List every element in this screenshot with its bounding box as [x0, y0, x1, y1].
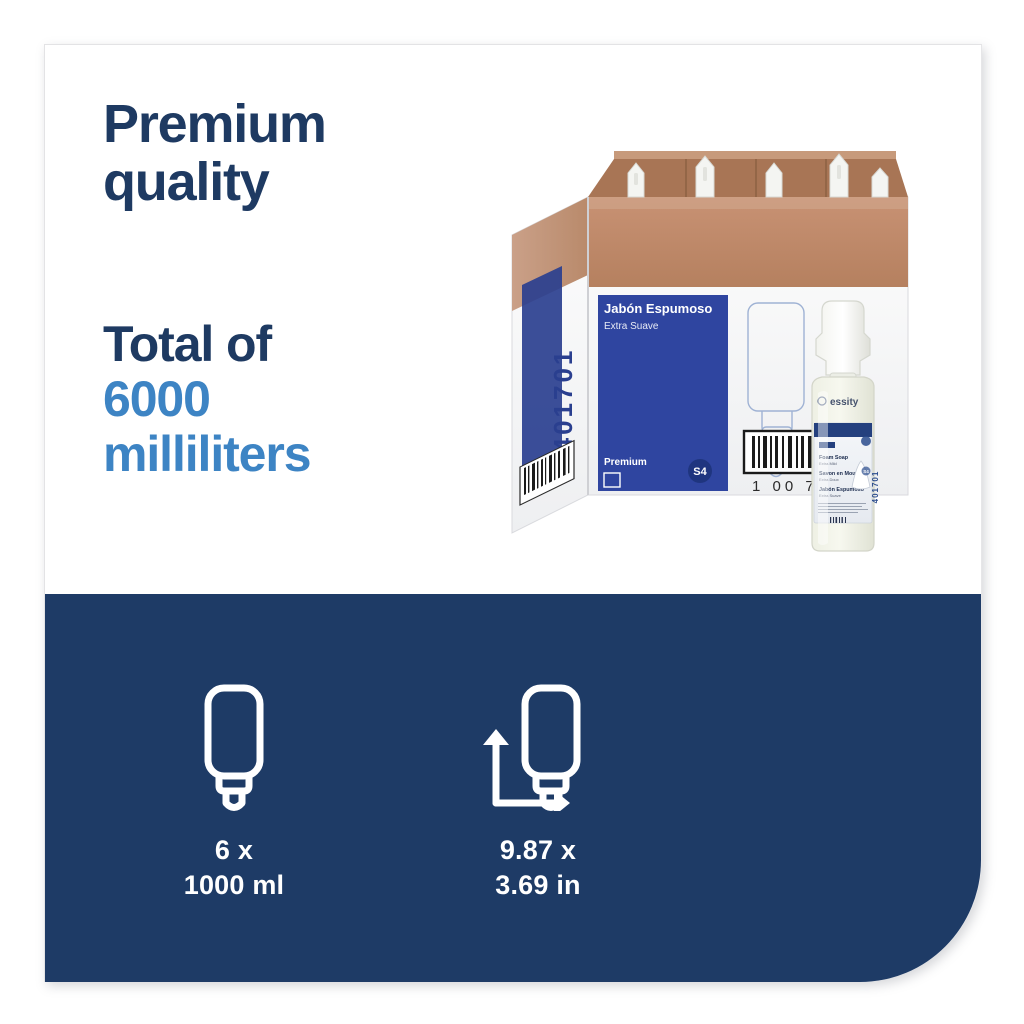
product-photo-illustration: 401701 Jabón Espu: [500, 135, 930, 565]
headline-line-2: quality: [103, 153, 503, 211]
bottle-system-badge: S4: [863, 469, 869, 474]
subheadline-volume-value: 6000: [103, 372, 523, 427]
subheadline-volume-unit: milliliters: [103, 427, 523, 482]
box-system-badge: S4: [693, 466, 707, 478]
subheadline-line-1: Total of: [103, 317, 523, 372]
specs-banner: 6 x 1000 ml: [45, 594, 982, 982]
spec-dimensions-line-2: 3.69 in: [495, 868, 580, 903]
subheadline: Total of 6000 milliliters: [103, 317, 523, 482]
spec-volume-line-2: 1000 ml: [184, 868, 284, 903]
box-panel-footer: Premium: [604, 457, 647, 468]
bottle-side-article-number: 401701: [871, 471, 880, 504]
product-card: Premium quality Total of 6000 milliliter…: [44, 44, 982, 982]
bottle-brand: essity: [830, 397, 859, 408]
product-photo: 401701 Jabón Espu: [500, 135, 930, 565]
spec-item-volume: 6 x 1000 ml: [149, 666, 319, 903]
spec-volume-line-1: 6 x: [184, 833, 284, 868]
spec-dimensions-text: 9.87 x 3.69 in: [495, 833, 580, 903]
soap-bottle-icon: [189, 666, 279, 811]
page-title: Premium quality: [103, 95, 503, 212]
spec-item-dimensions: 9.87 x 3.69 in: [453, 666, 623, 903]
spec-volume-text: 6 x 1000 ml: [184, 833, 284, 903]
standalone-soap-bottle: essity Foam Soap Extra Mild Savon en Mou…: [812, 301, 880, 551]
spec-dimensions-line-1: 9.87 x: [495, 833, 580, 868]
product-marketing-image: Premium quality Total of 6000 milliliter…: [0, 0, 1024, 1024]
headline-line-1: Premium: [103, 95, 503, 153]
box-side-article-number: 401701: [548, 348, 578, 453]
box-panel-title: Jabón Espumoso: [604, 301, 712, 316]
bottle-dimensions-icon: [478, 666, 598, 811]
specs-list: 6 x 1000 ml: [149, 666, 623, 903]
box-panel-subtitle: Extra Suave: [604, 321, 659, 332]
